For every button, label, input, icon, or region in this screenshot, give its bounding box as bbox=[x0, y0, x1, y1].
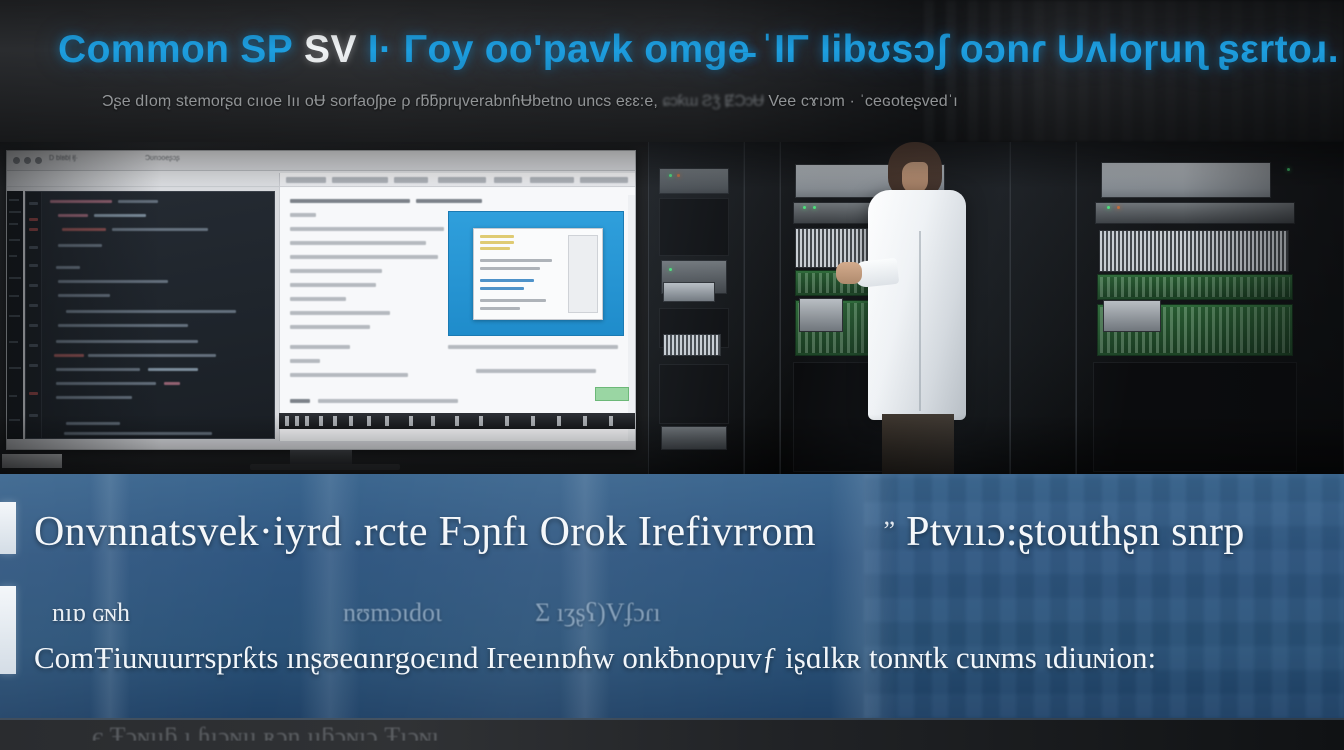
rack-status-led bbox=[669, 268, 672, 271]
code-token bbox=[66, 422, 120, 425]
doc-line bbox=[290, 297, 346, 301]
rack-unit bbox=[663, 282, 715, 302]
titlebar-label: D blʙƃḷ łʃ· bbox=[49, 155, 78, 162]
doc-line bbox=[290, 283, 376, 287]
rack-status-led bbox=[813, 206, 816, 209]
accent-bar-top bbox=[0, 502, 16, 554]
titlebar-icon-2 bbox=[24, 157, 31, 164]
gutter-marker-error bbox=[29, 228, 38, 231]
taskbar-item[interactable] bbox=[505, 416, 509, 426]
ribbon-item[interactable] bbox=[494, 177, 522, 183]
rack-unit bbox=[661, 426, 727, 450]
dialog-line bbox=[480, 241, 514, 244]
gutter-marker-error bbox=[29, 392, 38, 395]
technician-lab-coat bbox=[868, 190, 966, 420]
taskbar-item[interactable] bbox=[319, 416, 323, 426]
rack-status-led bbox=[677, 174, 680, 177]
code-token bbox=[66, 310, 236, 313]
headline-segment-2: SP bbox=[240, 28, 293, 71]
titlebar-icon-3 bbox=[35, 157, 42, 164]
tree-item[interactable] bbox=[9, 277, 21, 279]
dialog-line bbox=[480, 307, 520, 310]
rack-unit bbox=[1095, 202, 1295, 224]
rack-module bbox=[1103, 300, 1161, 332]
gutter-marker bbox=[29, 264, 38, 267]
gutter-marker bbox=[29, 414, 38, 417]
rack-unit bbox=[1101, 162, 1271, 198]
taskbar-item[interactable] bbox=[431, 416, 435, 426]
doc-line bbox=[448, 345, 618, 349]
doc-line bbox=[290, 359, 320, 363]
headline-segment-6: omge̵̵ bbox=[644, 28, 750, 71]
technician-figure bbox=[856, 142, 976, 474]
banner-headline-part2: Fɔɲfı Orok Irefivrrom bbox=[439, 509, 816, 555]
headline-segment-10: Uʌloɼuɳ bbox=[1057, 28, 1207, 71]
doc-line bbox=[290, 269, 382, 273]
doc-line bbox=[290, 325, 370, 329]
taskbar-item[interactable] bbox=[583, 416, 587, 426]
dialog-line bbox=[480, 247, 510, 250]
rack-unit bbox=[659, 198, 729, 256]
ribbon-item[interactable] bbox=[438, 177, 486, 183]
rack-status-led bbox=[803, 206, 806, 209]
taskbar-item[interactable] bbox=[367, 416, 371, 426]
rack-gap-column bbox=[744, 142, 780, 474]
rack-status-led bbox=[1117, 206, 1120, 209]
slide-canvas: CommonSPSVI· Γoyooʹpavkomge̵̵ˈΙΓIibʊsɔʃo… bbox=[0, 0, 1344, 750]
headline-segment-11: ʂεrtoɹ. bbox=[1218, 28, 1339, 71]
rack-unit bbox=[659, 364, 729, 424]
ribbon-item[interactable] bbox=[332, 177, 388, 183]
ribbon-item[interactable] bbox=[530, 177, 574, 183]
code-token bbox=[56, 368, 140, 371]
gutter-marker bbox=[29, 246, 38, 249]
taskbar-item[interactable] bbox=[385, 416, 389, 426]
headline-segment-7: ˈΙΓ bbox=[761, 28, 809, 71]
code-token bbox=[54, 354, 84, 357]
dialog-line bbox=[480, 299, 546, 302]
titlebar-tab-label: Ɔʊnɔоeʂɔʂ bbox=[145, 155, 180, 162]
banner-quote-glyph: ˮ bbox=[883, 516, 895, 545]
rack-status-led bbox=[669, 174, 672, 177]
tree-item[interactable] bbox=[9, 295, 19, 297]
status-badge bbox=[595, 387, 629, 401]
headline-segment-1: Common bbox=[58, 28, 229, 71]
taskbar-item[interactable] bbox=[305, 416, 309, 426]
headline-segment-8: Iibʊsɔʃ bbox=[820, 28, 949, 71]
window-titlebar: D blʙƃḷ łʃ· Ɔʊnɔоeʂɔʂ bbox=[7, 151, 635, 171]
banner-subline-faint-1: nʊmɔɩdoɩ bbox=[343, 598, 442, 627]
doc-line bbox=[290, 255, 438, 259]
rack-unit bbox=[1093, 362, 1297, 472]
banner-headline-part3: Ptvııɔ:ʂtouthʂn snrp bbox=[906, 509, 1245, 555]
code-token bbox=[112, 228, 208, 231]
document-ribbon[interactable] bbox=[280, 173, 635, 187]
photo-strip: D blʙƃḷ łʃ· Ɔʊnɔоeʂɔʂ bbox=[0, 142, 1344, 474]
banner-subline-faint-2: Ʃ ıʒʂʕ)Vʄɔɾı bbox=[535, 598, 661, 627]
monitor-photo: D blʙƃḷ łʃ· Ɔʊnɔоeʂɔʂ bbox=[0, 142, 648, 474]
gutter-marker bbox=[29, 284, 38, 287]
ribbon-item[interactable] bbox=[580, 177, 628, 183]
doc-line bbox=[290, 227, 444, 231]
technician-hand bbox=[836, 262, 862, 284]
gutter-marker bbox=[29, 344, 38, 347]
tree-item[interactable] bbox=[9, 341, 18, 343]
gutter-marker bbox=[29, 324, 38, 327]
dialog-line bbox=[480, 235, 514, 238]
gutter-marker bbox=[29, 304, 38, 307]
taskbar-item[interactable] bbox=[285, 416, 289, 426]
keyboard bbox=[2, 454, 62, 468]
doc-line bbox=[290, 213, 316, 217]
tree-item[interactable] bbox=[9, 419, 20, 421]
tree-item[interactable] bbox=[9, 367, 21, 369]
page-subtitle: Ɔʂe dΙom̨ stemorʂɑ cııоe Ιıı oɄ sorfaoʃp… bbox=[102, 93, 1302, 111]
dialog-line-highlight bbox=[480, 287, 524, 290]
rack-status-led bbox=[1287, 168, 1290, 171]
header-band: CommonSPSVI· Γoyooʹpavkomge̵̵ˈΙΓIibʊsɔʃo… bbox=[0, 0, 1344, 142]
banner-subline: nıɒ ɢɴh nʊmɔɩdoɩ Ʃ ıʒʂʕ)Vʄɔɾı bbox=[52, 598, 1344, 628]
titlebar-icon-1 bbox=[13, 157, 20, 164]
headline-segment-9: oɔnɾ bbox=[960, 28, 1046, 71]
dialog-line bbox=[480, 259, 552, 262]
taskbar-item[interactable] bbox=[479, 416, 483, 426]
ribbon-item[interactable] bbox=[286, 177, 326, 183]
technician-legs bbox=[882, 414, 954, 474]
code-token bbox=[58, 324, 188, 327]
taskbar-item[interactable] bbox=[557, 416, 561, 426]
server-rack bbox=[648, 142, 744, 474]
tree-item[interactable] bbox=[9, 199, 19, 201]
doc-line bbox=[290, 311, 390, 315]
taskbar-item[interactable] bbox=[609, 416, 613, 426]
gutter-marker bbox=[29, 202, 38, 205]
tree-item[interactable] bbox=[9, 255, 17, 257]
taskbar-item[interactable] bbox=[531, 416, 535, 426]
gutter-marker-error bbox=[29, 218, 38, 221]
taskbar-item[interactable] bbox=[333, 416, 337, 426]
taskbar-item[interactable] bbox=[349, 416, 353, 426]
dialog-line-highlight bbox=[480, 279, 534, 282]
subtitle-part-before: Ɔʂe dΙom̨ stemorʂɑ cııоe Ιıı oɄ sorfaoʃp… bbox=[102, 93, 658, 110]
document-scroll-column[interactable] bbox=[628, 195, 635, 441]
doc-line bbox=[290, 241, 426, 245]
code-token bbox=[56, 382, 156, 385]
code-editor-pane[interactable] bbox=[25, 191, 275, 439]
banner-body-text: ComŦiuɴuurrsprƙts ınʂʊeɑnrgoєınd Iгеeınɒ… bbox=[34, 640, 1334, 676]
code-token bbox=[64, 432, 212, 435]
banner-subline-part1: nıɒ ɢɴh bbox=[52, 598, 130, 627]
rack-vent bbox=[1099, 230, 1289, 272]
code-token bbox=[58, 214, 88, 217]
doc-line bbox=[290, 345, 350, 349]
doc-line bbox=[318, 399, 458, 403]
ribbon-item[interactable] bbox=[394, 177, 428, 183]
code-token bbox=[88, 354, 216, 357]
doc-line bbox=[290, 199, 410, 203]
banner-headline: Onvnnatsvek·iyrd .rcte Fɔɲfı Orok Irefiv… bbox=[34, 508, 1334, 556]
headline-segment-4: I· Γoy bbox=[368, 28, 474, 71]
doc-line bbox=[416, 199, 482, 203]
code-token bbox=[58, 294, 110, 297]
rack-vent bbox=[663, 334, 721, 356]
code-token bbox=[50, 200, 112, 203]
gutter-marker bbox=[29, 364, 38, 367]
doc-line bbox=[290, 399, 310, 403]
tree-item[interactable] bbox=[9, 239, 20, 241]
rack-module bbox=[799, 298, 843, 332]
code-token bbox=[56, 266, 80, 269]
subtitle-smudged-glyphs: ɕɔƙɯ Ƨǯ ɆƆɔɄ bbox=[662, 93, 763, 111]
rack-gap-column bbox=[1010, 142, 1076, 474]
taskbar[interactable] bbox=[279, 413, 635, 429]
dialog-sidebar bbox=[568, 235, 598, 313]
rack-status-led bbox=[1107, 206, 1110, 209]
headline-segment-3-highlight: SV bbox=[304, 28, 357, 71]
page-title: CommonSPSVI· Γoyooʹpavkomge̵̵ˈΙΓIibʊsɔʃo… bbox=[58, 28, 1308, 72]
code-token bbox=[148, 368, 198, 371]
code-token bbox=[94, 214, 146, 217]
subtitle-part-after: Vee cɤıɔm · ˈceɢoteʂvedˈı bbox=[768, 93, 957, 110]
document-pane[interactable] bbox=[279, 173, 635, 441]
accent-bar-bottom bbox=[0, 586, 16, 674]
code-token bbox=[56, 396, 132, 399]
tree-item[interactable] bbox=[9, 211, 21, 213]
monitor-base bbox=[250, 464, 400, 470]
doc-line bbox=[290, 373, 408, 377]
taskbar-item[interactable] bbox=[455, 416, 459, 426]
server-room-photo bbox=[648, 142, 1344, 474]
tree-item[interactable] bbox=[9, 223, 18, 225]
doc-line bbox=[476, 369, 596, 373]
monitor-screen: D blʙƃḷ łʃ· Ɔʊnɔоeʂɔʂ bbox=[6, 150, 636, 450]
preview-window[interactable] bbox=[448, 211, 624, 336]
preview-dialog[interactable] bbox=[473, 228, 603, 320]
rack-unit bbox=[659, 168, 729, 194]
server-rack bbox=[1076, 142, 1344, 474]
code-token bbox=[62, 228, 106, 231]
banner-headline-part1: Onvnnatsvek·iyrd .rcte bbox=[34, 509, 428, 555]
file-tree-pane[interactable] bbox=[7, 191, 23, 439]
code-token bbox=[164, 382, 180, 385]
headline-segment-5: ooʹpavk bbox=[485, 28, 634, 71]
taskbar-item[interactable] bbox=[409, 416, 413, 426]
code-token bbox=[58, 244, 102, 247]
code-token bbox=[56, 340, 198, 343]
code-token bbox=[118, 200, 158, 203]
dialog-line bbox=[480, 267, 540, 270]
tree-item[interactable] bbox=[9, 395, 17, 397]
code-token bbox=[58, 280, 168, 283]
tree-item[interactable] bbox=[9, 315, 20, 317]
taskbar-item[interactable] bbox=[295, 416, 299, 426]
code-gutter bbox=[26, 192, 42, 438]
circuit-board bbox=[1097, 274, 1293, 300]
